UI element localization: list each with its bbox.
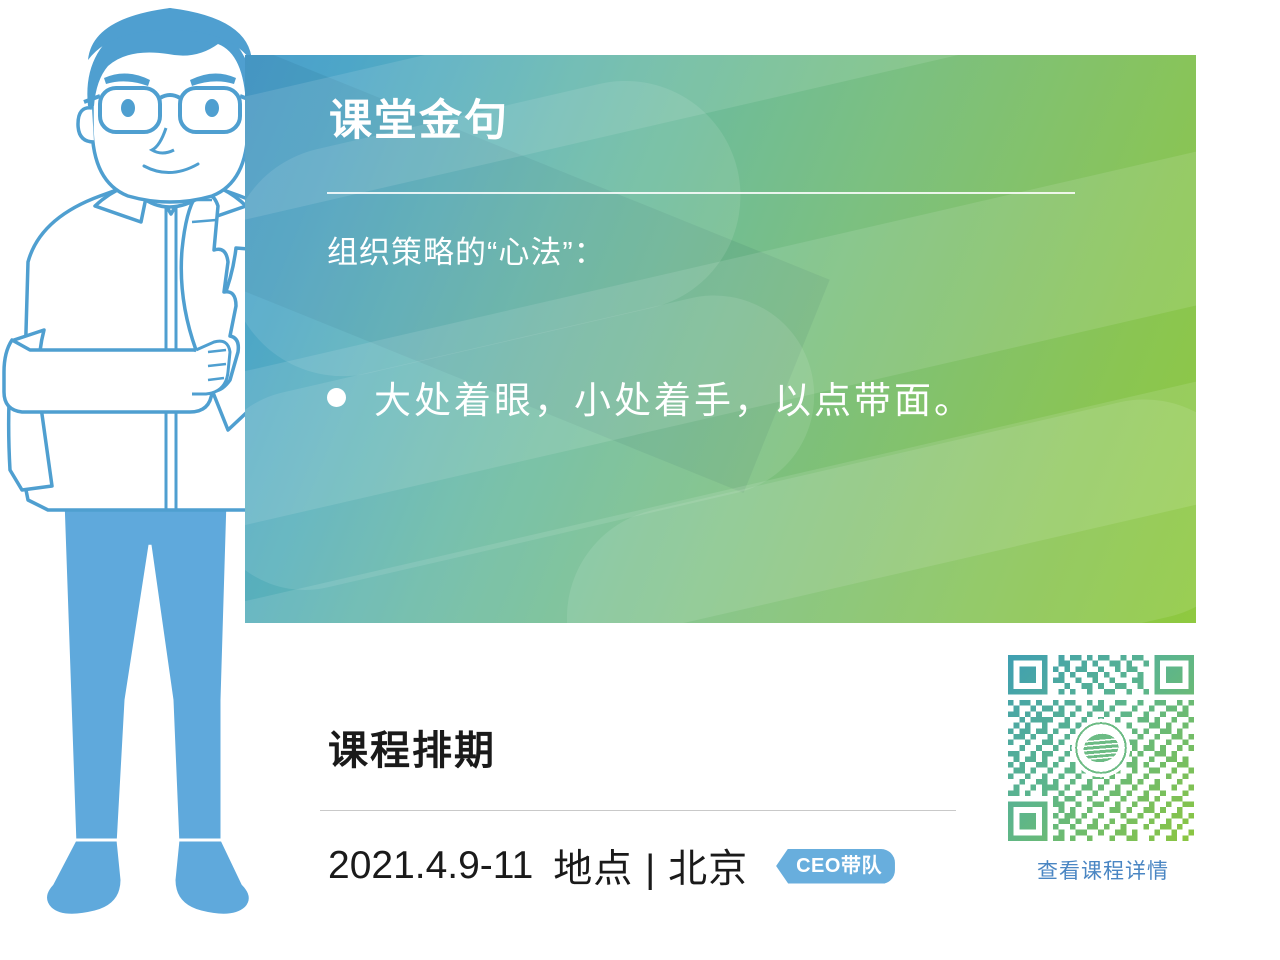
- quote-card-divider: [327, 192, 1075, 194]
- schedule-divider: [320, 810, 956, 811]
- ceo-badge-label: CEO带队: [796, 856, 882, 876]
- schedule-location: 地点 | 北京: [553, 838, 748, 894]
- quote-bullet-item: 大处着眼，小处着手，以点带面。: [327, 370, 974, 424]
- quote-card-lead: 组织策略的“心法”：: [327, 227, 606, 272]
- qr-caption[interactable]: 查看课程详情: [1008, 855, 1198, 885]
- quote-card: 课堂金句 组织策略的“心法”： 大处着眼，小处着手，以点带面。: [245, 55, 1196, 623]
- schedule-date: 2021.4.9-11: [328, 844, 533, 888]
- legs-shape: [63, 490, 228, 845]
- head-shape: [78, 8, 262, 202]
- qr-code-image[interactable]: [1008, 655, 1194, 841]
- ceo-badge: CEO带队: [776, 849, 895, 884]
- schedule-heading: 课程排期: [328, 718, 496, 776]
- quote-bullet-text: 大处着眼，小处着手，以点带面。: [374, 370, 974, 424]
- schedule-details-row: 2021.4.9-11 地点 | 北京 CEO带队: [328, 838, 895, 894]
- qr-block[interactable]: 查看课程详情: [1008, 655, 1198, 885]
- shoes-shape: [45, 840, 250, 915]
- bullet-dot-icon: [327, 388, 346, 407]
- quote-card-title: 课堂金句: [329, 98, 509, 145]
